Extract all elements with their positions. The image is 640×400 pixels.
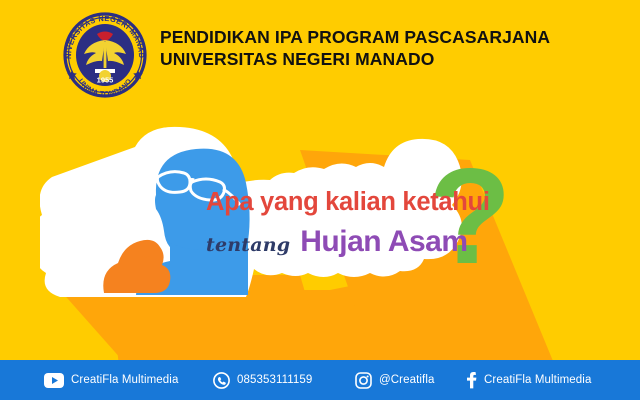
whatsapp-icon [213, 372, 230, 389]
logo-year-text: 1955 [97, 76, 114, 85]
social-item-youtube[interactable]: CreatiFla Multimedia [44, 373, 178, 388]
headline-line1: Apa yang kalian ketahui [206, 190, 546, 216]
headline-line2: tentang Hujan Asam [206, 225, 546, 259]
youtube-icon [44, 373, 64, 388]
connector-word: tentang [206, 234, 290, 256]
social-label-facebook: CreatiFla Multimedia [484, 374, 591, 386]
header: UNIVERSITAS NEGERI MANADO UNIMA TONDANO [0, 0, 640, 105]
social-item-facebook[interactable]: CreatiFla Multimedia [465, 371, 591, 389]
header-title-line1: PENDIDIKAN IPA PROGRAM PASCASARJANA [160, 26, 550, 48]
headline-block: Apa yang kalian ketahui tentang Hujan As… [206, 190, 546, 259]
header-title-line2: UNIVERSITAS NEGERI MANADO [160, 48, 550, 70]
university-logo: UNIVERSITAS NEGERI MANADO UNIMA TONDANO [62, 12, 148, 98]
social-label-youtube: CreatiFla Multimedia [71, 374, 178, 386]
social-label-whatsapp: 085353111159 [237, 374, 312, 386]
topic-text: Hujan Asam [300, 225, 467, 259]
facebook-icon [465, 371, 477, 389]
footer-bar: CreatiFla Multimedia 085353111159 @Creat… [0, 360, 640, 400]
social-label-instagram: @Creatifla [379, 374, 435, 386]
poster-canvas: UNIVERSITAS NEGERI MANADO UNIMA TONDANO [0, 0, 640, 400]
social-item-instagram[interactable]: @Creatifla [355, 372, 435, 389]
header-title-block: PENDIDIKAN IPA PROGRAM PASCASARJANA UNIV… [160, 26, 550, 71]
social-item-whatsapp[interactable]: 085353111159 [213, 372, 312, 389]
instagram-icon [355, 372, 372, 389]
